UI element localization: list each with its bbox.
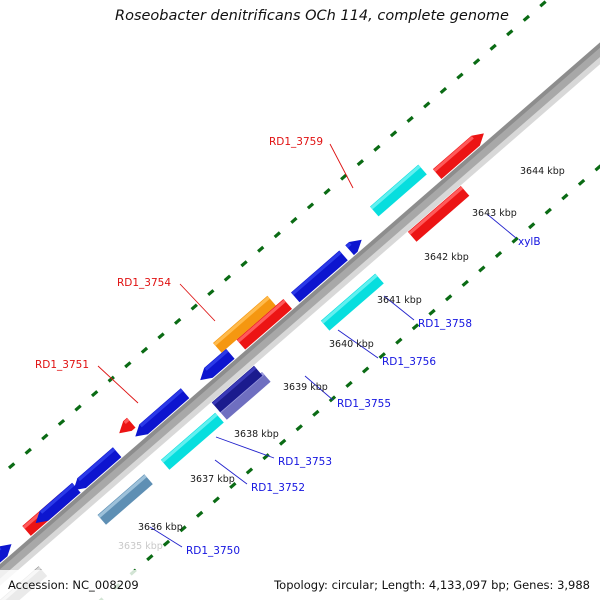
guide-dash [308,204,313,209]
guide-dash [142,348,147,353]
gene-label-rd1-3754[interactable]: RD1_3754 [117,277,171,289]
guide-dash [474,59,479,64]
guide-dash [291,218,296,223]
guide-dash [125,362,130,367]
gene-label-xylb[interactable]: xylB [518,236,541,248]
guide-dash [297,425,302,430]
guide-dash [109,377,114,382]
genome-viewer-canvas[interactable]: 3635 kbp3636 kbp3637 kbp3638 kbp3639 kbp… [0,0,600,600]
gene-label-rd1-3758[interactable]: RD1_3758 [418,318,472,330]
guide-dash [479,267,484,272]
gene-label-rd1-3756[interactable]: RD1_3756 [382,356,436,368]
gene-label-rd1-3755[interactable]: RD1_3755 [337,398,391,410]
gene-label-rd1-3751[interactable]: RD1_3751 [35,359,89,371]
genome-diagram[interactable]: 3635 kbp3636 kbp3637 kbp3638 kbp3639 kbp… [0,0,600,600]
guide-dash [546,209,551,214]
gene-label-rd1-3751-leader [98,366,138,403]
guide-dash [507,31,512,36]
tick-3640: 3640 kbp [329,339,374,350]
guide-dash [192,305,197,310]
guide-dash [540,2,545,7]
guide-dash [562,195,567,200]
tick-3638: 3638 kbp [234,429,279,440]
axis-tick-labels: 3635 kbp3636 kbp3637 kbp3638 kbp3639 kbp… [118,166,565,552]
gene-arrow-rd1-3763-highlight [371,166,419,208]
guide-dash [596,166,600,171]
guide-dash [247,469,252,474]
guide-dash [325,189,330,194]
guide-dash [275,233,280,238]
guide-dash [280,440,285,445]
guide-dash [496,252,501,257]
gene-label-rd1-3759-leader [330,144,353,188]
guide-dash [164,541,169,546]
guide-dash [214,498,219,503]
tick-3639: 3639 kbp [283,382,328,393]
guide-dash [408,117,413,122]
guide-dash [524,16,529,21]
gene-label-rd1-3753[interactable]: RD1_3753 [278,456,332,468]
guide-dash [346,382,351,387]
tick-3644: 3644 kbp [520,166,565,177]
guide-dash [313,411,318,416]
guide-dash [424,103,429,108]
guide-dash [491,45,496,50]
guide-dash [26,449,31,454]
guide-dash [429,310,434,315]
guide-dash [341,175,346,180]
gene-label-rd1-3754-leader [180,284,215,321]
guide-dash [579,180,584,185]
guide-dash [463,281,468,286]
page-title: Roseobacter denitrificans OCh 114, compl… [115,8,509,24]
guide-dash [374,146,379,151]
guide-dash [147,555,152,560]
tick-3635: 3635 kbp [118,541,163,552]
guide-dash [457,74,462,79]
guide-dash [513,238,518,243]
guide-dash [330,397,335,402]
genome-summary-label: Topology: circular; Length: 4,133,097 bp… [274,578,592,592]
guide-dash [446,296,451,301]
guide-dash [391,132,396,137]
guide-dash [158,334,163,339]
gene-label-rd1-3750[interactable]: RD1_3750 [186,545,240,557]
tick-3641: 3641 kbp [377,295,422,306]
guide-dash [358,160,363,165]
guide-dash [441,88,446,93]
tick-3642: 3642 kbp [424,252,469,263]
guide-dash [363,368,368,373]
gene-label-rd1-3752[interactable]: RD1_3752 [251,482,305,494]
tick-3637: 3637 kbp [190,474,235,485]
guide-dash [225,276,230,281]
guide-dash [396,339,401,344]
tick-3643: 3643 kbp [472,208,517,219]
accession-label: Accession: NC_008209 [8,578,139,592]
guide-dash [197,512,202,517]
guide-dash [75,406,80,411]
tick-3636: 3636 kbp [138,522,183,533]
status-bar: Accession: NC_008209 Topology: circular;… [0,570,600,600]
guide-dash [529,223,534,228]
guide-dash [9,464,14,469]
gene-label-rd1-3753-leader [216,437,274,458]
guide-dash [92,391,97,396]
guide-dash [175,319,180,324]
gene-label-rd1-3759[interactable]: RD1_3759 [269,136,323,148]
guide-dash [59,420,64,425]
guide-dash [208,290,213,295]
guide-dash [258,247,263,252]
guide-dash [42,435,47,440]
guide-dash [241,261,246,266]
